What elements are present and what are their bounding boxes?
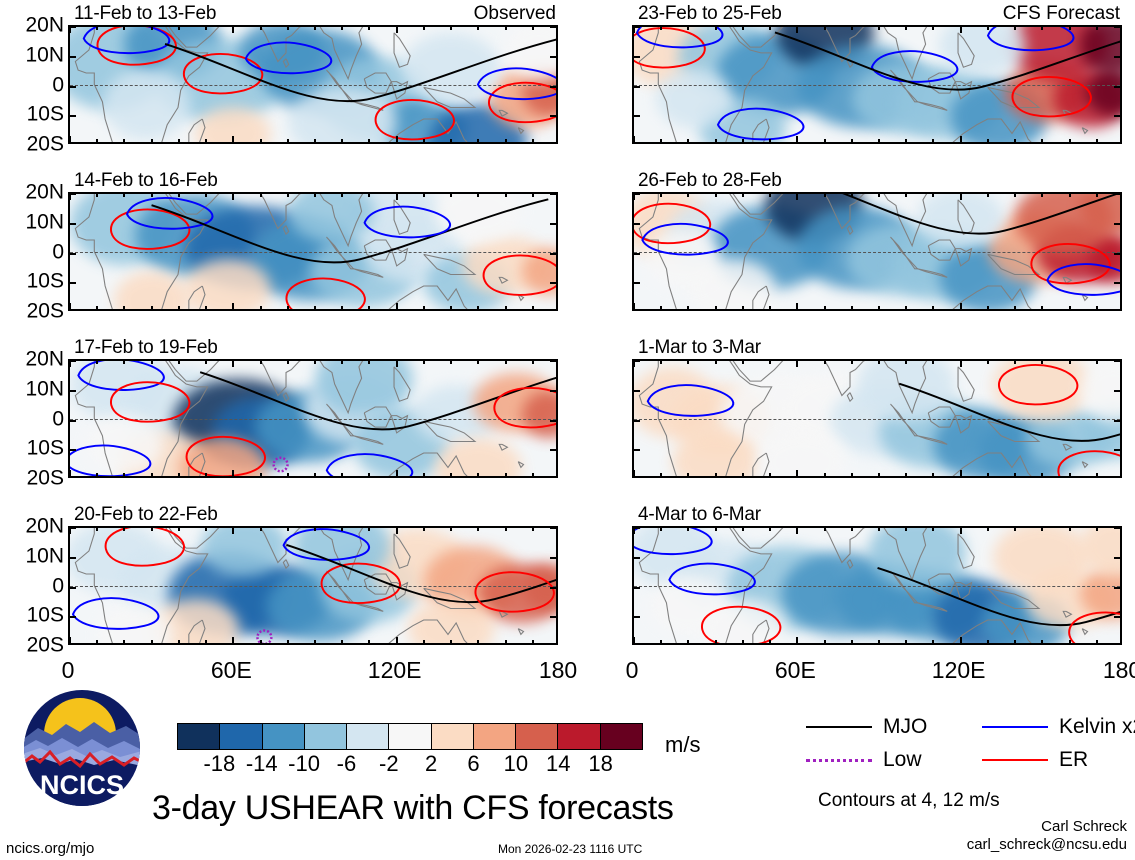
legend-item: MJO [806, 716, 927, 738]
plot-area [68, 526, 558, 645]
wave-contours [634, 361, 1120, 476]
x-ticks-bottom [70, 303, 556, 310]
colorbar-tick-label: -2 [379, 752, 399, 776]
colorbar-tick-label: -14 [246, 752, 278, 776]
y-axis-tick-label: 20S [27, 635, 64, 656]
y-axis-tick-label: 20S [27, 468, 64, 489]
y-axis-tick-label: 20N [25, 182, 64, 203]
y-ticks-left [633, 361, 640, 476]
y-axis-labels: 20N10N010S20S [2, 192, 64, 311]
plot-area [632, 25, 1122, 144]
legend-line-swatch [982, 759, 1048, 761]
y-axis-tick-label: 0 [52, 408, 64, 429]
y-axis-tick-label: 20N [25, 349, 64, 370]
y-ticks-right [1114, 27, 1121, 142]
colorbar [177, 723, 643, 750]
wave-legend: MJOKelvin x2LowER [806, 716, 1135, 786]
x-ticks-top [634, 360, 1120, 367]
legend-line-swatch [806, 759, 872, 762]
panel-title: 11-Feb to 13-Feb [74, 4, 216, 24]
legend-label: ER [1059, 749, 1088, 771]
y-axis-tick-label: 10S [27, 605, 64, 626]
forecast-panel: 20-Feb to 22-Feb20N10N010S20S [68, 526, 558, 645]
forecast-panel: 14-Feb to 16-Feb20N10N010S20S [68, 192, 558, 311]
x-ticks-bottom [70, 637, 556, 644]
x-axis-tick-label: 180 [1103, 657, 1135, 683]
plot-area [68, 25, 558, 144]
colorbar-tick-label: 10 [504, 752, 528, 776]
colorbar-swatch [600, 724, 642, 749]
author-credit: Carl Schreck carl_schreck@ncsu.edu [967, 818, 1127, 854]
forecast-panel: 23-Feb to 25-FebCFS Forecast [632, 25, 1122, 144]
x-ticks-top [634, 527, 1120, 534]
plot-area [632, 526, 1122, 645]
y-ticks-left [633, 194, 640, 309]
wave-contours [634, 194, 1120, 309]
y-axis-tick-label: 0 [52, 575, 64, 596]
colorbar-swatch [346, 724, 388, 749]
contour-note: Contours at 4, 12 m/s [818, 790, 1000, 812]
y-axis-tick-label: 20S [27, 134, 64, 155]
panel-column-header: CFS Forecast [1003, 4, 1120, 24]
x-ticks-top [70, 527, 556, 534]
x-axis-tick-label: 0 [62, 657, 75, 683]
colorbar-tick-label: 2 [425, 752, 437, 776]
wave-contours [634, 528, 1120, 643]
colorbar-swatch [515, 724, 557, 749]
x-ticks-bottom [70, 136, 556, 143]
forecast-panel: 26-Feb to 28-Feb [632, 192, 1122, 311]
wave-contours [70, 194, 556, 309]
x-axis-labels-right: 060E120E180 [632, 657, 1122, 683]
y-ticks-right [550, 194, 557, 309]
forecast-panel: 4-Mar to 6-Mar [632, 526, 1122, 645]
plot-area [632, 359, 1122, 478]
x-axis-tick-label: 60E [775, 657, 816, 683]
y-axis-tick-label: 20N [25, 15, 64, 36]
legend-item: Kelvin x2 [982, 716, 1135, 738]
x-ticks-top [70, 360, 556, 367]
y-axis-tick-label: 10N [25, 211, 64, 232]
x-ticks-top [634, 26, 1120, 33]
y-axis-tick-label: 10N [25, 378, 64, 399]
colorbar-swatch [178, 724, 219, 749]
site-url[interactable]: ncics.org/mjo [6, 840, 94, 857]
y-ticks-right [1114, 528, 1121, 643]
x-axis-tick-label: 60E [211, 657, 252, 683]
panel-title: 26-Feb to 28-Feb [638, 171, 782, 191]
y-axis-labels: 20N10N010S20S [2, 25, 64, 144]
plot-area [68, 192, 558, 311]
panel-column-header: Observed [474, 4, 556, 24]
author-name: Carl Schreck [967, 818, 1127, 836]
x-axis-labels-left: 060E120E180 [68, 657, 558, 683]
colorbar-swatch [219, 724, 261, 749]
x-axis-tick-label: 180 [539, 657, 577, 683]
colorbar-tick-label: -18 [203, 752, 235, 776]
y-axis-tick-label: 20S [27, 301, 64, 322]
colorbar-swatch [473, 724, 515, 749]
x-ticks-top [634, 193, 1120, 200]
colorbar-swatch [388, 724, 430, 749]
wave-contours [70, 27, 556, 142]
x-ticks-top [70, 26, 556, 33]
wave-contours [70, 361, 556, 476]
y-ticks-right [550, 361, 557, 476]
colorbar-tick-label: 14 [546, 752, 570, 776]
x-ticks-bottom [70, 470, 556, 477]
colorbar-tick-label: 18 [588, 752, 612, 776]
y-axis-tick-label: 20N [25, 516, 64, 537]
y-ticks-right [550, 528, 557, 643]
x-ticks-bottom [634, 637, 1120, 644]
x-ticks-bottom [634, 136, 1120, 143]
y-ticks-left [69, 194, 76, 309]
legend-line-swatch [982, 726, 1048, 728]
colorbar-swatch [262, 724, 304, 749]
plot-area [68, 359, 558, 478]
y-ticks-left [69, 27, 76, 142]
y-axis-tick-label: 10S [27, 271, 64, 292]
page-title: 3-day USHEAR with CFS forecasts [152, 789, 674, 827]
x-axis-tick-label: 120E [932, 657, 986, 683]
ncics-logo: NCICS [22, 688, 142, 808]
colorbar-tick-labels: -18-14-10-6-226101418 [177, 752, 643, 778]
author-email[interactable]: carl_schreck@ncsu.edu [967, 836, 1127, 854]
panel-title: 4-Mar to 6-Mar [638, 505, 761, 525]
colorbar-unit-label: m/s [665, 733, 700, 757]
colorbar-swatch [557, 724, 599, 749]
wave-contours [70, 528, 556, 643]
y-axis-tick-label: 0 [52, 241, 64, 262]
x-axis-tick-label: 0 [626, 657, 639, 683]
y-ticks-right [1114, 361, 1121, 476]
x-ticks-top [70, 193, 556, 200]
timestamp: Mon 2026-02-23 1116 UTC [498, 842, 642, 856]
colorbar-swatch [431, 724, 473, 749]
y-axis-tick-label: 10S [27, 438, 64, 459]
forecast-panel: 1-Mar to 3-Mar [632, 359, 1122, 478]
panel-title: 23-Feb to 25-Feb [638, 4, 782, 24]
legend-label: MJO [883, 716, 927, 738]
forecast-panel: 17-Feb to 19-Feb20N10N010S20S [68, 359, 558, 478]
colorbar-swatch [304, 724, 346, 749]
y-axis-tick-label: 0 [52, 74, 64, 95]
x-axis-tick-label: 120E [368, 657, 422, 683]
legend-label: Low [883, 749, 922, 771]
x-ticks-bottom [634, 303, 1120, 310]
y-axis-labels: 20N10N010S20S [2, 526, 64, 645]
y-axis-tick-label: 10N [25, 545, 64, 566]
forecast-panel: 11-Feb to 13-FebObserved20N10N010S20S [68, 25, 558, 144]
y-ticks-left [69, 528, 76, 643]
legend-label: Kelvin x2 [1059, 716, 1135, 738]
logo-text: NCICS [40, 770, 124, 800]
y-ticks-left [69, 361, 76, 476]
panel-title: 17-Feb to 19-Feb [74, 338, 218, 358]
legend-line-swatch [806, 726, 872, 728]
panel-title: 14-Feb to 16-Feb [74, 171, 218, 191]
y-axis-tick-label: 10S [27, 104, 64, 125]
legend-item: Low [806, 749, 922, 771]
y-ticks-left [633, 528, 640, 643]
plot-area [632, 192, 1122, 311]
y-ticks-right [550, 27, 557, 142]
colorbar-tick-label: -10 [288, 752, 320, 776]
panel-title: 20-Feb to 22-Feb [74, 505, 218, 525]
panel-title: 1-Mar to 3-Mar [638, 338, 761, 358]
y-ticks-right [1114, 194, 1121, 309]
colorbar-tick-label: -6 [337, 752, 357, 776]
legend-item: ER [982, 749, 1088, 771]
x-ticks-bottom [634, 470, 1120, 477]
y-ticks-left [633, 27, 640, 142]
y-axis-labels: 20N10N010S20S [2, 359, 64, 478]
colorbar-tick-label: 6 [467, 752, 479, 776]
wave-contours [634, 27, 1120, 142]
y-axis-tick-label: 10N [25, 44, 64, 65]
